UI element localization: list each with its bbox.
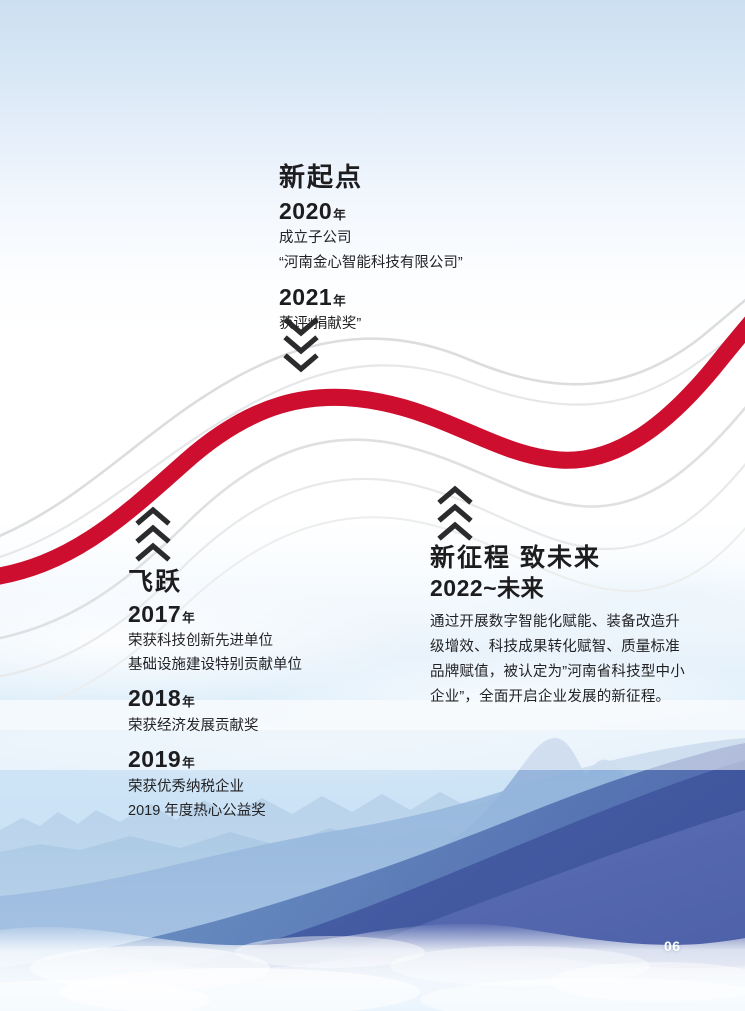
- brochure-page: 新起点 2020年 成立子公司 “河南金心智能科技有限公司” 2021年 获评“…: [0, 0, 745, 1011]
- year-suffix: 年: [332, 294, 346, 308]
- section-heading-new-start: 新起点: [279, 163, 463, 193]
- section-heading-leap: 飞跃: [128, 568, 302, 597]
- chevron-up-icon: [441, 489, 469, 501]
- section-paragraph-new-journey: 通过开展数字智能化赋能、装备改造升级增效、科技成果转化赋智、质量标准品牌赋值，被…: [430, 610, 685, 710]
- year-entry-2021: 2021年: [279, 284, 463, 312]
- year-entry-2020: 2020年: [279, 198, 463, 226]
- year-value: 2021: [279, 284, 332, 310]
- chevron-up-icon: [441, 525, 469, 537]
- chevron-down-icon: [287, 339, 315, 351]
- year-suffix: 年: [181, 756, 195, 770]
- entry-line: 获评“捐献奖”: [279, 314, 463, 335]
- chevron-up-triple-left: [133, 506, 173, 569]
- year-suffix: 年: [181, 611, 195, 625]
- year-value: 2018: [128, 685, 181, 711]
- chevron-up-icon: [139, 510, 167, 522]
- chevron-up-icon: [139, 546, 167, 558]
- year-value: 2017: [128, 601, 181, 627]
- year-entry-2018: 2018年: [128, 685, 302, 713]
- year-entry-2017: 2017年: [128, 601, 302, 629]
- chevron-up-icon: [441, 507, 469, 519]
- year-value: 2020: [279, 198, 332, 224]
- misty-mountain-landscape: [0, 700, 745, 1011]
- entry-line: 成立子公司: [279, 228, 463, 249]
- section-new-journey: 新征程 致未来 2022~未来 通过开展数字智能化赋能、装备改造升级增效、科技成…: [430, 544, 685, 710]
- chevron-down-icon: [287, 357, 315, 369]
- entry-line: 荣获优秀纳税企业: [128, 777, 302, 798]
- page-number: 06: [664, 938, 681, 954]
- section-leap: 飞跃 2017年 荣获科技创新先进单位 基础设施建设特别贡献单位 2018年 荣…: [128, 568, 302, 822]
- chevron-up-triple-right: [435, 485, 475, 548]
- entry-line: 荣获经济发展贡献奖: [128, 716, 302, 737]
- entry-line: 2019 年度热心公益奖: [128, 801, 302, 822]
- red-main-curve: [0, 312, 745, 578]
- entry-line: 荣获科技创新先进单位: [128, 631, 302, 652]
- chevron-up-icon: [139, 528, 167, 540]
- section-period-new-journey: 2022~未来: [430, 575, 685, 603]
- section-heading-new-journey: 新征程 致未来: [430, 544, 685, 573]
- year-value: 2019: [128, 746, 181, 772]
- year-entry-2019: 2019年: [128, 746, 302, 774]
- entry-line: “河南金心智能科技有限公司”: [279, 253, 463, 274]
- section-new-start: 新起点 2020年 成立子公司 “河南金心智能科技有限公司” 2021年 获评“…: [279, 163, 463, 335]
- entry-line: 基础设施建设特别贡献单位: [128, 655, 302, 676]
- year-suffix: 年: [181, 695, 195, 709]
- year-suffix: 年: [332, 208, 346, 222]
